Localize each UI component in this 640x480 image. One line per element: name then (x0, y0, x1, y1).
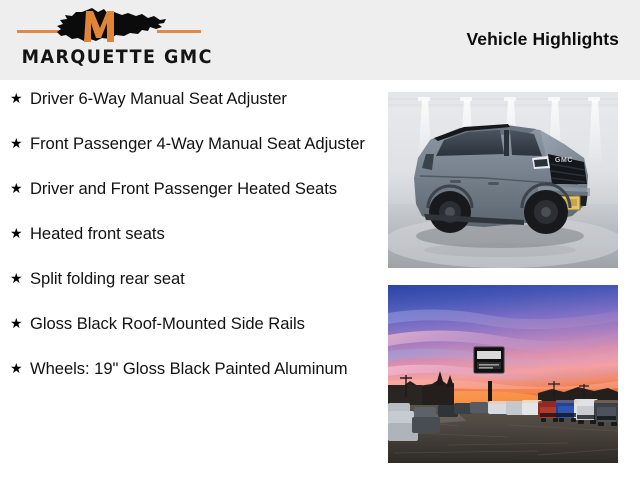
upper-peninsula-michigan-icon (52, 6, 168, 46)
list-item-label: Driver 6-Way Manual Seat Adjuster (30, 86, 366, 111)
star-bullet-icon: ★ (8, 356, 30, 381)
star-bullet-icon: ★ (8, 311, 30, 336)
list-item: ★ Split folding rear seat (0, 266, 372, 291)
vehicle-photo-illustration: GMC (388, 92, 618, 268)
star-bullet-icon: ★ (8, 221, 30, 246)
star-bullet-icon: ★ (8, 131, 30, 156)
star-bullet-icon: ★ (8, 176, 30, 201)
list-item-label: Heated front seats (30, 221, 366, 246)
list-item-label: Driver and Front Passenger Heated Seats (30, 176, 366, 201)
dealership-lot-photo[interactable] (388, 285, 618, 463)
list-item-label: Wheels: 19" Gloss Black Painted Aluminum (30, 356, 366, 381)
brand-logo-mark (14, 4, 204, 48)
page-header: MARQUETTE GMC Vehicle Highlights (0, 0, 640, 80)
brand-name: MARQUETTE GMC (22, 46, 197, 68)
list-item: ★ Driver 6-Way Manual Seat Adjuster (0, 86, 372, 111)
brand-logo[interactable]: MARQUETTE GMC (14, 4, 204, 78)
list-item-label: Split folding rear seat (30, 266, 366, 291)
vehicle-highlights-list: ★ Driver 6-Way Manual Seat Adjuster ★ Fr… (0, 86, 372, 381)
svg-text:GMC: GMC (555, 157, 573, 164)
list-item-label: Front Passenger 4-Way Manual Seat Adjust… (30, 131, 366, 156)
list-item-label: Gloss Black Roof-Mounted Side Rails (30, 311, 366, 336)
list-item: ★ Wheels: 19" Gloss Black Painted Alumin… (0, 356, 372, 381)
star-bullet-icon: ★ (8, 86, 30, 111)
star-bullet-icon: ★ (8, 266, 30, 291)
list-item: ★ Heated front seats (0, 221, 372, 246)
list-item: ★ Gloss Black Roof-Mounted Side Rails (0, 311, 372, 336)
vehicle-photo[interactable]: GMC (388, 92, 618, 268)
dealership-lot-illustration (388, 285, 618, 463)
page-title: Vehicle Highlights (466, 29, 619, 50)
list-item: ★ Driver and Front Passenger Heated Seat… (0, 176, 372, 201)
list-item: ★ Front Passenger 4-Way Manual Seat Adju… (0, 131, 372, 156)
